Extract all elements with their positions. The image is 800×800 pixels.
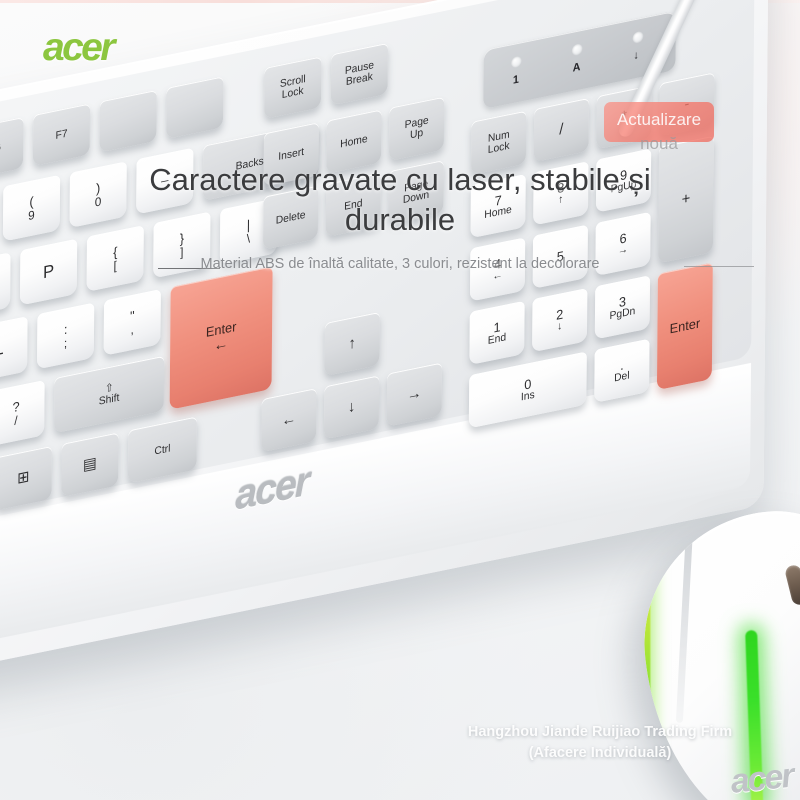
key-label-top: Scroll (280, 74, 306, 90)
key-label: Ctrl (154, 443, 170, 457)
caps-lock-led (572, 43, 583, 56)
key-label-bottom: 9 (28, 209, 35, 223)
key-label-bottom: , (130, 323, 133, 336)
key-label-bottom: ; (64, 337, 67, 350)
key-label-bottom: / (14, 414, 17, 427)
key-label: F6 (0, 142, 1, 156)
key-9[interactable]: ( 9 (3, 175, 60, 242)
key-label-top: ? (12, 399, 19, 414)
key-label-top: ( (29, 194, 33, 209)
key-numpad-decimal[interactable]: . Del (594, 339, 649, 403)
key-label-bottom: Lock (488, 141, 510, 157)
key-quote[interactable]: " , (104, 289, 161, 356)
key-arrow-right[interactable]: → (387, 362, 442, 426)
key-numpad-1[interactable]: 1 End (469, 301, 524, 365)
key-numpad-2[interactable]: 2 ↓ (532, 288, 587, 352)
key-label-top: Num (488, 129, 510, 145)
mouse-scroll-wheel[interactable] (784, 564, 800, 607)
key-label: F7 (55, 128, 67, 142)
key-numpad-divide[interactable]: / (534, 98, 589, 162)
key-label-top: 2 (556, 307, 563, 322)
num-lock-led-label: 1 (513, 73, 519, 86)
key-label-top: Page (405, 115, 429, 131)
arrow-up-icon: ↑ (348, 335, 355, 352)
key-label: Home (340, 133, 368, 150)
key-numpad-3[interactable]: 3 PgDn (595, 275, 650, 339)
arrow-right-icon: → (407, 385, 422, 404)
key-label-top: " (130, 308, 135, 323)
key-label: Enter (206, 320, 237, 340)
key-label-top: 3 (619, 294, 626, 309)
promo-headline: Caractere gravate cu laser, stabile și d… (100, 160, 700, 239)
scroll-lock-led (633, 31, 644, 44)
update-badge-label-line2: nouă (604, 134, 714, 154)
key-label-top: Pause (345, 60, 374, 77)
product-banner: F6 F7 Scroll Lock Pause Break * 8 ( (0, 0, 800, 800)
scroll-lock-led-label: ↓ (633, 49, 638, 62)
windows-icon: ⊞ (17, 469, 29, 487)
key-label-top: 1 (493, 320, 500, 335)
key-enter-main[interactable]: Enter ← (170, 266, 273, 409)
key-label: Enter (670, 316, 701, 336)
arrow-left-icon: ← (281, 411, 296, 430)
key-label: P (43, 262, 54, 282)
key-windows[interactable]: ⊞ (0, 446, 52, 511)
key-arrow-down[interactable]: ↓ (324, 375, 379, 439)
menu-icon: ▤ (83, 455, 97, 474)
key-label-bottom: Del (614, 371, 630, 385)
key-label-bottom: PgDn (609, 306, 635, 322)
key-label-top: : (64, 322, 68, 337)
key-semicolon[interactable]: : ; (37, 303, 94, 370)
key-label: / (559, 122, 563, 139)
key-p[interactable]: P (20, 239, 77, 306)
seller-watermark-line1: Hangzhou Jiande Ruijiao Trading Firm (360, 722, 800, 743)
key-label: L (0, 340, 4, 360)
update-badge-label-line1: Actualizare (604, 110, 714, 130)
key-page-up[interactable]: Page Up (389, 97, 444, 161)
key-label-bottom: Ins (521, 390, 535, 404)
key-label-top: . (620, 358, 624, 373)
seller-watermark-line2: (Afacere Individuală) (360, 743, 800, 764)
key-label-bottom: End (488, 332, 506, 347)
seller-watermark: Hangzhou Jiande Ruijiao Trading Firm (Af… (360, 722, 800, 764)
arrow-down-icon: ↓ (348, 399, 355, 416)
key-label-bottom: ↓ (557, 321, 562, 333)
shift-arrow-icon: ⇧ (105, 382, 114, 395)
key-label-top: 0 (524, 377, 531, 392)
key-arrow-left[interactable]: ← (261, 388, 316, 452)
key-label: Shift (99, 392, 120, 407)
promo-subline: Material ABS de înaltă calitate, 3 culor… (100, 256, 700, 272)
key-label-bottom: Up (410, 128, 423, 142)
key-menu[interactable]: ▤ (61, 432, 118, 497)
key-label-bottom: Lock (282, 86, 304, 102)
key-arrow-up[interactable]: ↑ (324, 312, 379, 376)
num-lock-led (511, 55, 522, 68)
caps-lock-led-label: A (573, 61, 581, 75)
enter-arrow-icon: ← (214, 335, 229, 354)
acer-brand-logo: acer (43, 26, 113, 70)
key-label-bottom: Break (346, 71, 373, 88)
key-numpad-enter[interactable]: Enter (657, 262, 713, 390)
